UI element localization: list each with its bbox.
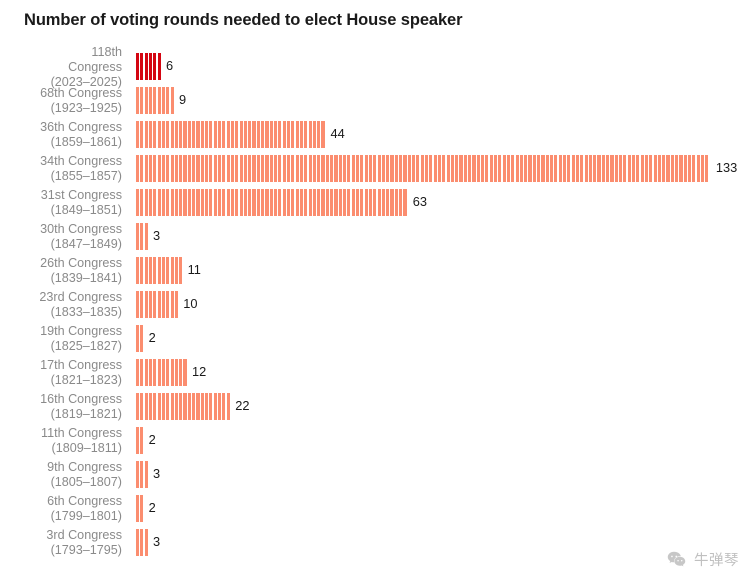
bar-segment [205, 393, 208, 420]
bar-segment [145, 155, 148, 182]
bar-segment [145, 359, 148, 386]
bar-segment [701, 155, 704, 182]
bar-row: 3rd Congress (1793–1795)3 [0, 526, 753, 560]
bar-segment [171, 291, 174, 318]
bar-segment [188, 155, 191, 182]
bar-segment [494, 155, 497, 182]
bar-segment [421, 155, 424, 182]
bar-segment [252, 121, 255, 148]
bar-segment [183, 393, 186, 420]
bar-segment [149, 359, 152, 386]
bar-segment [136, 461, 139, 488]
bar-segment [136, 427, 139, 454]
bar-segment [192, 121, 195, 148]
bar-segment [136, 189, 139, 216]
bar-segment [149, 155, 152, 182]
bar-segment [347, 155, 350, 182]
bar-row-label: 34th Congress (1855–1857) [0, 154, 122, 184]
bar-segment [270, 121, 273, 148]
bar-segment [231, 155, 234, 182]
bar-segment [214, 189, 217, 216]
bar-segment [287, 155, 290, 182]
bar-segment [158, 393, 161, 420]
bar-segment [334, 189, 337, 216]
bar-segment [248, 121, 251, 148]
bar-segment [304, 155, 307, 182]
bar-segment [149, 87, 152, 114]
bar-segment [671, 155, 674, 182]
bar-segment [140, 257, 143, 284]
bar-segment [278, 189, 281, 216]
bar-row-label: 23rd Congress (1833–1835) [0, 290, 122, 320]
bar-segment [369, 189, 372, 216]
bar-segment [317, 189, 320, 216]
bar-segment [438, 155, 441, 182]
bar-segment [240, 121, 243, 148]
bar-segment [218, 393, 221, 420]
bar-segment [171, 359, 174, 386]
bar-segment [201, 393, 204, 420]
bar [136, 155, 712, 182]
bar-segment [227, 155, 230, 182]
bar-segment [649, 155, 652, 182]
bar-segment [175, 291, 178, 318]
bar-segment [140, 121, 143, 148]
bar-segment [149, 291, 152, 318]
bar-segment [179, 189, 182, 216]
bar-segment [296, 121, 299, 148]
bar-row: 9th Congress (1805–1807)3 [0, 458, 753, 492]
bar-segment [403, 155, 406, 182]
bar-segment [145, 393, 148, 420]
bar-segment [231, 121, 234, 148]
watermark: 牛弹琴 [666, 549, 739, 570]
bar-segment [300, 155, 303, 182]
bar-segment [636, 155, 639, 182]
bar-segment [356, 155, 359, 182]
bar-segment [205, 121, 208, 148]
bar-segment [179, 121, 182, 148]
bar-segment [559, 155, 562, 182]
bar-segment [507, 155, 510, 182]
bar-segment [235, 189, 238, 216]
bar-segment [451, 155, 454, 182]
bar-segment [679, 155, 682, 182]
bar-segment [227, 393, 230, 420]
bar [136, 223, 149, 250]
bar [136, 529, 149, 556]
bar-segment [149, 393, 152, 420]
bar-segment [287, 121, 290, 148]
bar-segment [218, 121, 221, 148]
bar-row-label: 3rd Congress (1793–1795) [0, 528, 122, 558]
bar-segment [162, 121, 165, 148]
bar-segment [675, 155, 678, 182]
bar-segment [240, 155, 243, 182]
bar-segment [541, 155, 544, 182]
bar-segment [162, 393, 165, 420]
bar-segment [265, 121, 268, 148]
bar-segment [464, 155, 467, 182]
bar-segment [145, 53, 148, 80]
bar [136, 393, 231, 420]
bar-segment [218, 155, 221, 182]
bar-segment [498, 155, 501, 182]
bar-segment [585, 155, 588, 182]
bar-segment [179, 257, 182, 284]
bar-segment [136, 529, 139, 556]
bar-row-label: 36th Congress (1859–1861) [0, 120, 122, 150]
bar-segment [153, 393, 156, 420]
bar-segment [149, 53, 152, 80]
bar-segment [140, 53, 143, 80]
bar [136, 87, 175, 114]
bar-segment [390, 155, 393, 182]
bar-segment [485, 155, 488, 182]
bar-segment [209, 155, 212, 182]
bar-segment [313, 155, 316, 182]
bar-segment [597, 155, 600, 182]
bar-segment [158, 155, 161, 182]
bar-segment [140, 427, 143, 454]
bar-segment [378, 189, 381, 216]
bar-segment [291, 155, 294, 182]
bar-segment [352, 189, 355, 216]
bar-segment [209, 189, 212, 216]
bar-segment [580, 155, 583, 182]
bar-segment [145, 223, 148, 250]
bar-segment [481, 155, 484, 182]
bar-segment [270, 155, 273, 182]
bar-row-label: 118th Congress (2023–2025) [0, 45, 122, 90]
bar-row-label: 19th Congress (1825–1827) [0, 324, 122, 354]
bar-segment [347, 189, 350, 216]
bar-segment [214, 393, 217, 420]
bar-segment [425, 155, 428, 182]
bar-segment [274, 189, 277, 216]
bar-segment [201, 189, 204, 216]
bar-value-label: 63 [413, 194, 427, 209]
bar-segment [222, 121, 225, 148]
bar-segment [214, 121, 217, 148]
bar-row-label: 11th Congress (1809–1811) [0, 426, 122, 456]
bar-segment [162, 87, 165, 114]
bar-segment [321, 155, 324, 182]
bar-segment [567, 155, 570, 182]
bar-segment [145, 189, 148, 216]
bar-segment [390, 189, 393, 216]
bar-segment [296, 189, 299, 216]
bar-value-label: 3 [153, 228, 160, 243]
bar-segment [705, 155, 708, 182]
bar-segment [516, 155, 519, 182]
bar-segment [222, 393, 225, 420]
bar-value-label: 12 [192, 364, 206, 379]
bar-segment [378, 155, 381, 182]
bar-segment [304, 189, 307, 216]
bar-segment [201, 121, 204, 148]
bar-segment [136, 121, 139, 148]
bar-segment [360, 189, 363, 216]
bar-segment [175, 121, 178, 148]
bar-segment [468, 155, 471, 182]
bar-segment [403, 189, 406, 216]
bar-segment [632, 155, 635, 182]
bar-segment [196, 189, 199, 216]
bar-segment [140, 189, 143, 216]
bar-segment [171, 189, 174, 216]
bar-row: 118th Congress (2023–2025)6 [0, 50, 753, 84]
bar-segment [304, 121, 307, 148]
bar-value-label: 44 [331, 126, 345, 141]
bar-segment [209, 121, 212, 148]
bar-segment [278, 121, 281, 148]
bar-segment [572, 155, 575, 182]
bar-segment [175, 189, 178, 216]
bar-value-label: 2 [149, 432, 156, 447]
bar-row-label: 6th Congress (1799–1801) [0, 494, 122, 524]
bar-segment [576, 155, 579, 182]
bar-segment [140, 359, 143, 386]
bar-segment [459, 155, 462, 182]
bar-segment [339, 189, 342, 216]
bar-segment [201, 155, 204, 182]
bar-segment [145, 529, 148, 556]
bar-segment [166, 155, 169, 182]
bar-segment [382, 155, 385, 182]
bar-segment [546, 155, 549, 182]
bar-segment [287, 189, 290, 216]
bar-segment [442, 155, 445, 182]
bar-segment [257, 121, 260, 148]
bar-segment [658, 155, 661, 182]
bar-segment [166, 359, 169, 386]
bar-segment [343, 155, 346, 182]
bar-segment [408, 155, 411, 182]
bar-segment [283, 155, 286, 182]
bar-segment [300, 121, 303, 148]
bar-segment [171, 257, 174, 284]
bar-segment [171, 87, 174, 114]
bar [136, 359, 188, 386]
bar-segment [196, 121, 199, 148]
bar-segment [399, 189, 402, 216]
bar-segment [619, 155, 622, 182]
bar-segment [171, 393, 174, 420]
bar-segment [166, 87, 169, 114]
bar [136, 189, 409, 216]
bar-segment [300, 189, 303, 216]
bar-segment [373, 189, 376, 216]
bar-segment [140, 155, 143, 182]
bar-segment [321, 121, 324, 148]
bar-segment [455, 155, 458, 182]
bar-segment [140, 325, 143, 352]
bar-row: 34th Congress (1855–1857)133 [0, 152, 753, 186]
bar-row-label: 68th Congress (1923–1925) [0, 86, 122, 116]
bar-segment [149, 189, 152, 216]
bar-segment [183, 155, 186, 182]
bar-segment [162, 189, 165, 216]
bar-segment [136, 257, 139, 284]
bar-segment [313, 189, 316, 216]
bar-segment [231, 189, 234, 216]
bar-segment [666, 155, 669, 182]
bar-segment [416, 155, 419, 182]
bar-segment [166, 291, 169, 318]
bar-segment [283, 121, 286, 148]
bar-segment [218, 189, 221, 216]
bar-segment [227, 121, 230, 148]
bar-segment [490, 155, 493, 182]
bar-segment [257, 189, 260, 216]
bar-segment [145, 87, 148, 114]
bar-row: 11th Congress (1809–1811)2 [0, 424, 753, 458]
bar-segment [145, 461, 148, 488]
chart-title: Number of voting rounds needed to elect … [24, 11, 462, 30]
bar-segment [528, 155, 531, 182]
bar-segment [140, 529, 143, 556]
bar [136, 121, 327, 148]
bar-segment [166, 393, 169, 420]
bar-row: 26th Congress (1839–1841)11 [0, 254, 753, 288]
bar-value-label: 2 [149, 500, 156, 515]
bar-segment [399, 155, 402, 182]
bar-segment [140, 87, 143, 114]
bar-segment [179, 155, 182, 182]
bar-segment [158, 121, 161, 148]
bar-segment [563, 155, 566, 182]
bar-segment [136, 359, 139, 386]
bar-segment [248, 155, 251, 182]
bar-segment [537, 155, 540, 182]
bar-segment [244, 189, 247, 216]
bar-segment [188, 393, 191, 420]
bar [136, 53, 162, 80]
bar-segment [317, 155, 320, 182]
bar-segment [158, 53, 161, 80]
bar-segment [171, 155, 174, 182]
bar-segment [244, 121, 247, 148]
bar-segment [593, 155, 596, 182]
bar-segment [429, 155, 432, 182]
bar-segment [153, 359, 156, 386]
bar-segment [205, 189, 208, 216]
bar-segment [136, 495, 139, 522]
bar-value-label: 2 [149, 330, 156, 345]
bar-segment [662, 155, 665, 182]
bar-value-label: 22 [235, 398, 249, 413]
bar [136, 461, 149, 488]
bar-segment [606, 155, 609, 182]
bar-segment [654, 155, 657, 182]
bar-segment [162, 257, 165, 284]
bar-value-label: 6 [166, 58, 173, 73]
bar-segment [615, 155, 618, 182]
bar-segment [477, 155, 480, 182]
bar-segment [153, 257, 156, 284]
bar-segment [140, 495, 143, 522]
bar-segment [162, 359, 165, 386]
bar-segment [291, 189, 294, 216]
bar-segment [196, 393, 199, 420]
bar-segment [227, 189, 230, 216]
bar-segment [628, 155, 631, 182]
bar-segment [153, 87, 156, 114]
bar-segment [684, 155, 687, 182]
bar-segment [248, 189, 251, 216]
bar-row: 17th Congress (1821–1823)12 [0, 356, 753, 390]
bar-segment [352, 155, 355, 182]
bar-segment [149, 121, 152, 148]
bar-segment [317, 121, 320, 148]
wechat-icon [666, 549, 687, 570]
bar-segment [158, 257, 161, 284]
bar-segment [158, 359, 161, 386]
bar-segment [369, 155, 372, 182]
bar-row: 6th Congress (1799–1801)2 [0, 492, 753, 526]
bar-segment [192, 393, 195, 420]
bar [136, 495, 145, 522]
bar-segment [261, 189, 264, 216]
bar-segment [274, 155, 277, 182]
bar-segment [503, 155, 506, 182]
bar-segment [244, 155, 247, 182]
bar-segment [175, 359, 178, 386]
bar-segment [365, 189, 368, 216]
bar-segment [136, 325, 139, 352]
bar-segment [520, 155, 523, 182]
bar-segment [330, 155, 333, 182]
bar-segment [313, 121, 316, 148]
bar-segment [365, 155, 368, 182]
bar-segment [140, 223, 143, 250]
bar-segment [175, 393, 178, 420]
bar-segment [265, 189, 268, 216]
bar-row: 36th Congress (1859–1861)44 [0, 118, 753, 152]
bar-segment [140, 461, 143, 488]
bar-segment [360, 155, 363, 182]
bar-segment [192, 189, 195, 216]
bar-segment [149, 257, 152, 284]
bar-row-label: 30th Congress (1847–1849) [0, 222, 122, 252]
bar-segment [145, 291, 148, 318]
bar-segment [472, 155, 475, 182]
bar-segment [434, 155, 437, 182]
plot-area: 118th Congress (2023–2025)668th Congress… [0, 50, 753, 580]
bar-segment [326, 189, 329, 216]
bar-segment [395, 155, 398, 182]
bar-segment [309, 155, 312, 182]
bar-segment [136, 291, 139, 318]
bar-segment [153, 189, 156, 216]
bar-value-label: 3 [153, 466, 160, 481]
bar-segment [235, 155, 238, 182]
bar [136, 291, 179, 318]
bar-segment [309, 121, 312, 148]
bar-segment [692, 155, 695, 182]
bar-segment [511, 155, 514, 182]
bar-row-label: 9th Congress (1805–1807) [0, 460, 122, 490]
bar-segment [589, 155, 592, 182]
bar-segment [162, 291, 165, 318]
bar-segment [623, 155, 626, 182]
bar-segment [270, 189, 273, 216]
bar-segment [188, 121, 191, 148]
watermark-text: 牛弹琴 [694, 549, 739, 570]
bar [136, 257, 184, 284]
bar-segment [533, 155, 536, 182]
